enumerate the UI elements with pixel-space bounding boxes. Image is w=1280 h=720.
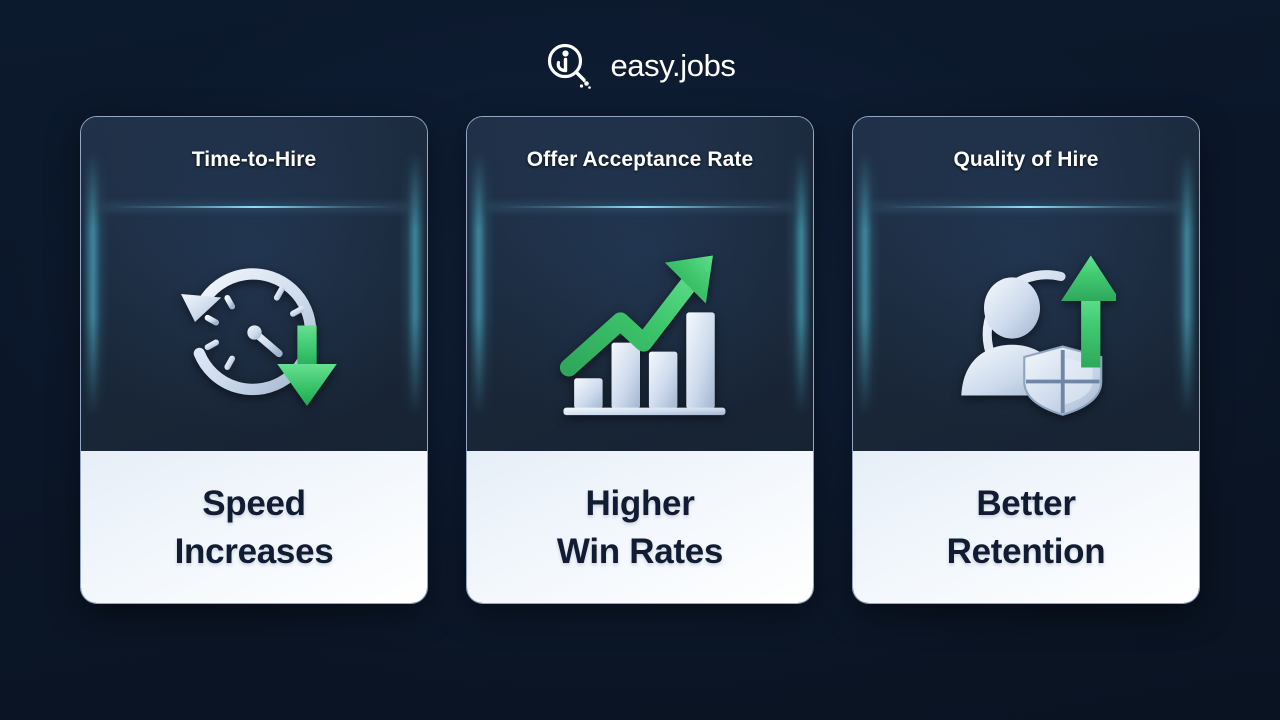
card-headline-line1: Speed: [202, 484, 306, 523]
card-title: Quality of Hire: [853, 148, 1199, 172]
card-headline-line1: Higher: [585, 484, 694, 523]
card-headline-line2: Increases: [175, 528, 334, 576]
card-headline: Better Retention: [947, 480, 1106, 577]
card-icon: [81, 237, 427, 427]
card-footer: Better Retention: [853, 451, 1199, 604]
metric-card-time-to-hire[interactable]: Time-to-Hire: [80, 116, 428, 604]
card-top-section: Offer Acceptance Rate: [467, 117, 813, 451]
card-title: Offer Acceptance Rate: [467, 148, 813, 172]
bar-chart-with-up-arrow-icon: [551, 243, 729, 421]
card-divider: [103, 206, 407, 208]
card-icon: [853, 237, 1199, 427]
card-headline-line1: Better: [976, 484, 1075, 523]
card-headline-line2: Retention: [947, 528, 1106, 576]
slide-canvas: easy.jobs Time-to-Hire: [0, 0, 1280, 720]
card-divider: [875, 206, 1179, 208]
metric-card-quality-of-hire[interactable]: Quality of Hire: [852, 116, 1200, 604]
card-title: Time-to-Hire: [81, 148, 427, 172]
card-icon: [467, 237, 813, 427]
card-footer: Higher Win Rates: [467, 451, 813, 604]
metric-card-offer-acceptance-rate[interactable]: Offer Acceptance Rate: [466, 116, 814, 604]
card-top-section: Quality of Hire: [853, 117, 1199, 451]
card-headline: Speed Increases: [175, 480, 334, 577]
magnifier-person-logo-icon: [544, 40, 594, 90]
brand-name: easy.jobs: [610, 50, 735, 81]
card-headline-line2: Win Rates: [557, 528, 723, 576]
clock-with-down-arrow-icon: [167, 245, 342, 420]
card-footer: Speed Increases: [81, 451, 427, 604]
card-divider: [489, 206, 793, 208]
card-top-section: Time-to-Hire: [81, 117, 427, 451]
person-shield-with-up-arrow-icon: [936, 245, 1116, 420]
brand-logo: easy.jobs: [0, 40, 1280, 90]
card-headline: Higher Win Rates: [557, 480, 723, 577]
